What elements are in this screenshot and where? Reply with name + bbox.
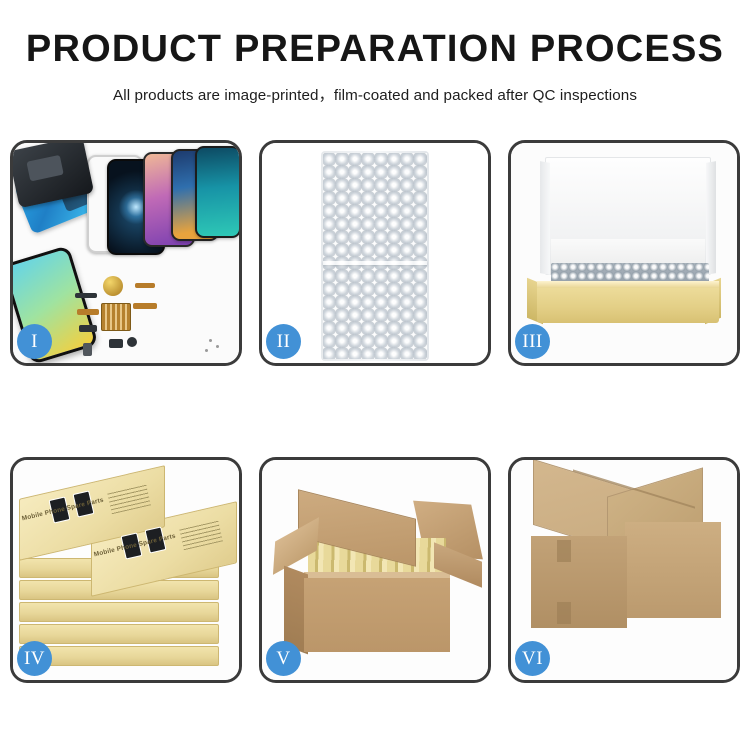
part-strip-2: [79, 325, 97, 332]
phone-teal: [195, 146, 239, 238]
step-badge-3: III: [515, 324, 550, 359]
step-panel-5: V: [259, 457, 491, 683]
step-panel-2: II: [259, 140, 491, 366]
flex-cable-3: [135, 283, 155, 288]
step-badge-2: II: [266, 324, 301, 359]
wireless-coil-part: [103, 276, 123, 296]
step-panel-4: Mobile Phone Spare Parts Mobile Phone Sp…: [10, 457, 242, 683]
carton-tape-lower: [557, 602, 571, 624]
stacked-box-3: [19, 602, 219, 622]
part-strip-1: [75, 293, 97, 298]
page-subtitle: All products are image-printed，film-coat…: [0, 83, 750, 105]
bubble-wrap-bubbles: [323, 153, 427, 359]
bubble-wrap-seam: [323, 261, 427, 265]
screw-2: [216, 345, 219, 348]
kraft-tray-rim: [537, 281, 719, 288]
part-tray: [83, 343, 92, 356]
step-panel-1: I: [10, 140, 242, 366]
part-button: [127, 337, 137, 347]
carton-front-face: [531, 536, 627, 628]
step-badge-5: V: [266, 641, 301, 676]
process-steps-grid: I II III: [10, 140, 740, 683]
screw-3: [205, 349, 208, 352]
carton-side-face: [625, 522, 721, 618]
step-badge-4: IV: [17, 641, 52, 676]
flex-cable-1: [77, 309, 99, 315]
carton-front-open: [304, 578, 450, 652]
step-panel-3: III: [508, 140, 740, 366]
flex-cable-2: [133, 303, 157, 309]
page-title: PRODUCT PREPARATION PROCESS: [0, 30, 750, 70]
product-preparation-infographic: PRODUCT PREPARATION PROCESS All products…: [0, 0, 750, 750]
chip-grid-part: [101, 303, 131, 331]
stacked-box-4: [19, 624, 219, 644]
kraft-tray-front: [537, 285, 719, 323]
screw-1: [209, 339, 212, 342]
step-panel-6: VI: [508, 457, 740, 683]
header: PRODUCT PREPARATION PROCESS All products…: [0, 0, 750, 105]
part-strip-3: [109, 339, 123, 348]
step-badge-1: I: [17, 324, 52, 359]
carton-tape-upper: [557, 540, 571, 562]
step-badge-6: VI: [515, 641, 550, 676]
